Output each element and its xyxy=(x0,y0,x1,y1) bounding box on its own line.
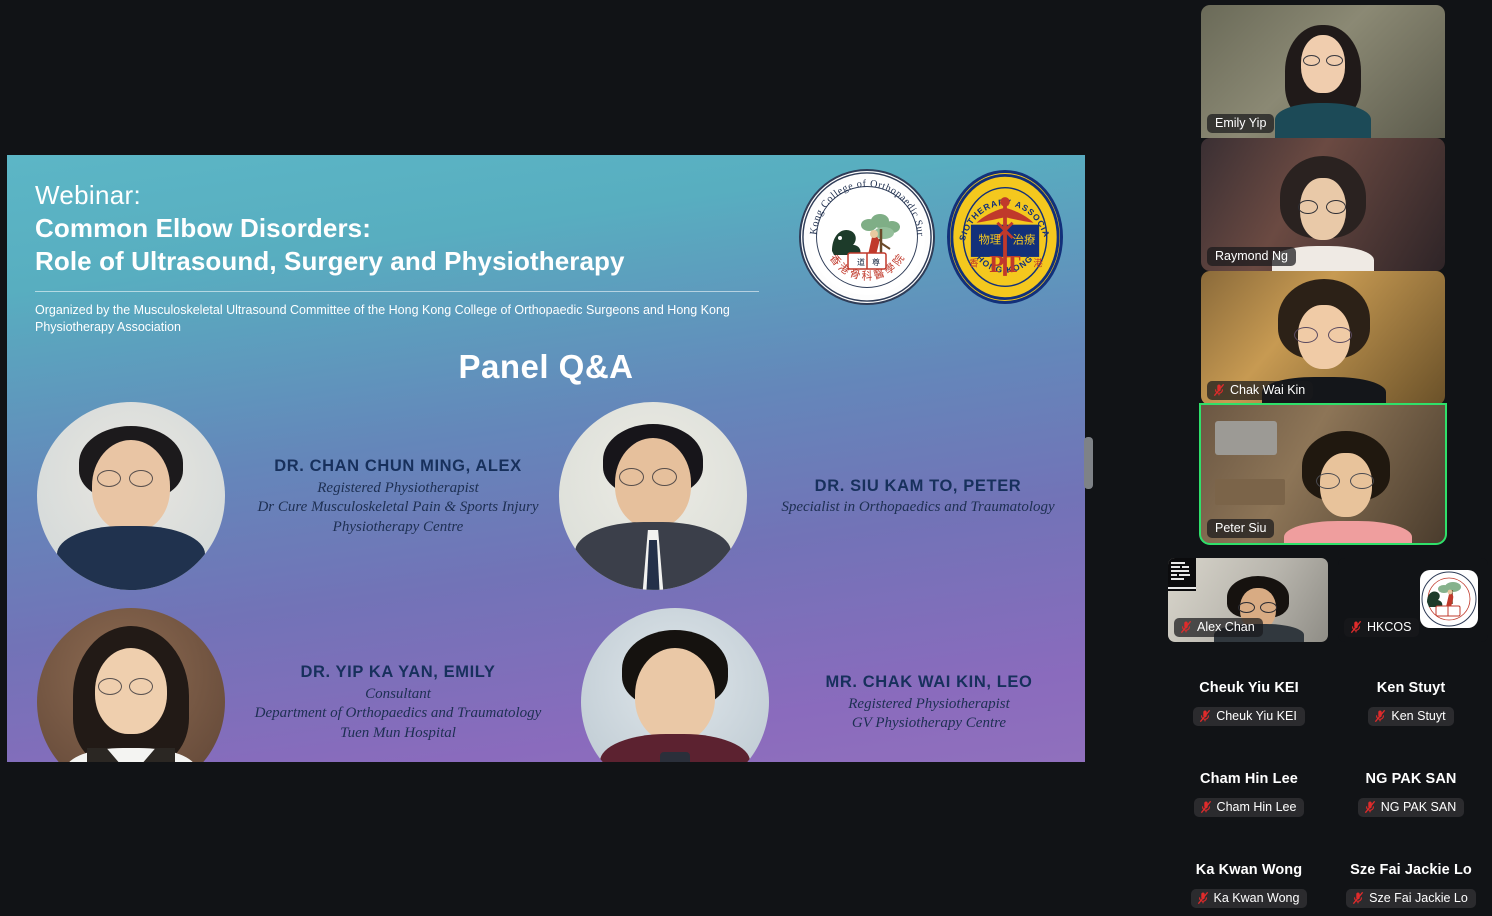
panelist-role-line: Consultant xyxy=(233,685,563,705)
panelist-name: MR. CHAK WAI KIN, LEO xyxy=(779,670,1079,695)
video-tile-hkcos[interactable]: HKCOS xyxy=(1338,558,1488,642)
panelist-role-line: GV Physiotherapy Centre xyxy=(779,714,1079,734)
participant-rail: Emily Yip Raymond Ng xyxy=(1160,0,1492,916)
participant-chip: Ka Kwan Wong xyxy=(1191,889,1308,908)
participant-name: NG PAK SAN xyxy=(1381,800,1456,814)
muted-mic-icon xyxy=(1352,891,1364,905)
participant-name: Emily Yip xyxy=(1215,116,1266,130)
panelist-name: DR. YIP KA YAN, EMILY xyxy=(233,660,563,685)
muted-mic-icon xyxy=(1350,620,1362,634)
video-tile-peter-siu[interactable]: Peter Siu xyxy=(1201,405,1445,543)
svg-text:尊: 尊 xyxy=(872,257,880,267)
panelist-card: DR. YIP KA YAN, EMILY Consultant Departm… xyxy=(37,608,567,762)
avatar xyxy=(37,402,225,590)
participant-name: Chak Wai Kin xyxy=(1230,383,1305,397)
panelist-card: DR. CHAN CHUN MING, ALEX Registered Phys… xyxy=(37,402,567,590)
slide-divider xyxy=(35,291,759,292)
muted-mic-icon xyxy=(1180,620,1192,634)
hkcos-logo: Hong Kong College of Orthopaedic Surgeon… xyxy=(799,169,935,305)
tile-name-label: Raymond Ng xyxy=(1207,247,1296,266)
participant-name: HKCOS xyxy=(1367,620,1411,634)
avatar xyxy=(37,608,225,762)
panelist-card: DR. SIU KAM TO, PETER Specialist in Orth… xyxy=(559,402,1079,590)
muted-mic-icon xyxy=(1364,800,1376,814)
tile-corner-thumbnail xyxy=(1168,558,1196,591)
participant-title: Sze Fai Jackie Lo xyxy=(1330,862,1492,878)
participant-chip: NG PAK SAN xyxy=(1358,798,1464,817)
participant-title: Cheuk Yiu KEI xyxy=(1168,680,1330,696)
tile-name-label: Chak Wai Kin xyxy=(1207,381,1313,400)
participant-chip: Ken Stuyt xyxy=(1368,707,1453,726)
participant-title: NG PAK SAN xyxy=(1330,771,1492,787)
video-tile-raymond-ng[interactable]: Raymond Ng xyxy=(1201,138,1445,271)
panelist-text: DR. CHAN CHUN MING, ALEX Registered Phys… xyxy=(233,454,563,537)
participant-name: Cham Hin Lee xyxy=(1217,800,1297,814)
panelist-name: DR. CHAN CHUN MING, ALEX xyxy=(233,454,563,479)
panelist-role-line: Specialist in Orthopaedics and Traumatol… xyxy=(757,498,1079,518)
muted-mic-icon xyxy=(1200,800,1212,814)
participant-title: Ken Stuyt xyxy=(1330,680,1492,696)
participant-card-cheuk-yiu-kei[interactable]: Cheuk Yiu KEI Cheuk Yiu KEI xyxy=(1168,680,1330,728)
svg-text:物理: 物理 xyxy=(978,233,1001,247)
svg-text:港: 港 xyxy=(1033,257,1043,269)
avatar xyxy=(581,608,769,762)
participant-card-cham-hin-lee[interactable]: Cham Hin Lee Cham Hin Lee xyxy=(1168,771,1330,819)
svg-text:治療: 治療 xyxy=(1013,233,1036,247)
panelist-name: DR. SIU KAM TO, PETER xyxy=(757,474,1079,499)
panelist-role-line: Tuen Mun Hospital xyxy=(233,724,563,744)
panelist-text: DR. SIU KAM TO, PETER Specialist in Orth… xyxy=(757,474,1079,518)
participant-card-ng-pak-san[interactable]: NG PAK SAN NG PAK SAN xyxy=(1330,771,1492,819)
participant-chip: Cheuk Yiu KEI xyxy=(1193,707,1305,726)
svg-text:道: 道 xyxy=(857,257,865,267)
svg-text:PT: PT xyxy=(989,251,1021,278)
participant-name: Peter Siu xyxy=(1215,521,1266,535)
video-tile-emily-yip[interactable]: Emily Yip xyxy=(1201,5,1445,138)
slide-organizer-text: Organized by the Musculoskeletal Ultraso… xyxy=(35,302,771,336)
muted-mic-icon xyxy=(1199,709,1211,723)
presentation-slide[interactable]: Webinar: Common Elbow Disorders: Role of… xyxy=(7,155,1085,762)
panelist-text: DR. YIP KA YAN, EMILY Consultant Departm… xyxy=(233,660,563,743)
video-tile-chak-wai-kin[interactable]: Chak Wai Kin xyxy=(1201,271,1445,405)
zoom-meeting-window: Webinar: Common Elbow Disorders: Role of… xyxy=(0,0,1492,916)
slide-logos: Hong Kong College of Orthopaedic Surgeon… xyxy=(799,169,1063,305)
participant-card-sze-fai-jackie-lo[interactable]: Sze Fai Jackie Lo Sze Fai Jackie Lo xyxy=(1330,862,1492,910)
participant-name: Cheuk Yiu KEI xyxy=(1216,709,1297,723)
participant-title: Cham Hin Lee xyxy=(1168,771,1330,787)
panelist-role-line: Physiotherapy Centre xyxy=(233,518,563,538)
video-tile-alex-chan[interactable]: Alex Chan xyxy=(1168,558,1328,642)
participant-name: Raymond Ng xyxy=(1215,249,1288,263)
panelist-role-line: Registered Physiotherapist xyxy=(779,695,1079,715)
hkpa-logo: PHYSIOTHERAPY ASSOCIATION HONG KONG xyxy=(947,170,1063,304)
slide-header: Webinar: Common Elbow Disorders: Role of… xyxy=(7,155,1085,336)
shared-screen-area[interactable]: Webinar: Common Elbow Disorders: Role of… xyxy=(0,0,1160,916)
participant-title: Ka Kwan Wong xyxy=(1168,862,1330,878)
tile-name-label: Emily Yip xyxy=(1207,114,1274,133)
panelist-role-line: Department of Orthopaedics and Traumatol… xyxy=(233,704,563,724)
hkcos-avatar-badge xyxy=(1420,570,1478,628)
avatar xyxy=(559,402,747,590)
panelist-text: MR. CHAK WAI KIN, LEO Registered Physiot… xyxy=(779,670,1079,734)
participant-card-ken-stuyt[interactable]: Ken Stuyt Ken Stuyt xyxy=(1330,680,1492,728)
panelist-role-line: Registered Physiotherapist xyxy=(233,479,563,499)
share-scrollbar-thumb[interactable] xyxy=(1084,437,1093,489)
participant-name: Ken Stuyt xyxy=(1391,709,1445,723)
panelist-card: MR. CHAK WAI KIN, LEO Registered Physiot… xyxy=(581,608,1081,762)
muted-mic-icon xyxy=(1374,709,1386,723)
panel-qa-title: Panel Q&A xyxy=(7,348,1085,386)
participant-name: Sze Fai Jackie Lo xyxy=(1369,891,1468,905)
participant-card-ka-kwan-wong[interactable]: Ka Kwan Wong Ka Kwan Wong xyxy=(1168,862,1330,910)
tile-name-label: Peter Siu xyxy=(1207,519,1274,538)
muted-mic-icon xyxy=(1197,891,1209,905)
tile-name-label: HKCOS xyxy=(1344,618,1419,637)
participant-name: Ka Kwan Wong xyxy=(1214,891,1300,905)
participant-name: Alex Chan xyxy=(1197,620,1255,634)
panelist-role-line: Dr Cure Musculoskeletal Pain & Sports In… xyxy=(233,498,563,518)
participant-chip: Sze Fai Jackie Lo xyxy=(1346,889,1476,908)
muted-mic-icon xyxy=(1213,383,1225,397)
svg-text:香: 香 xyxy=(969,258,979,269)
tile-name-label: Alex Chan xyxy=(1174,618,1263,637)
participant-chip: Cham Hin Lee xyxy=(1194,798,1305,817)
